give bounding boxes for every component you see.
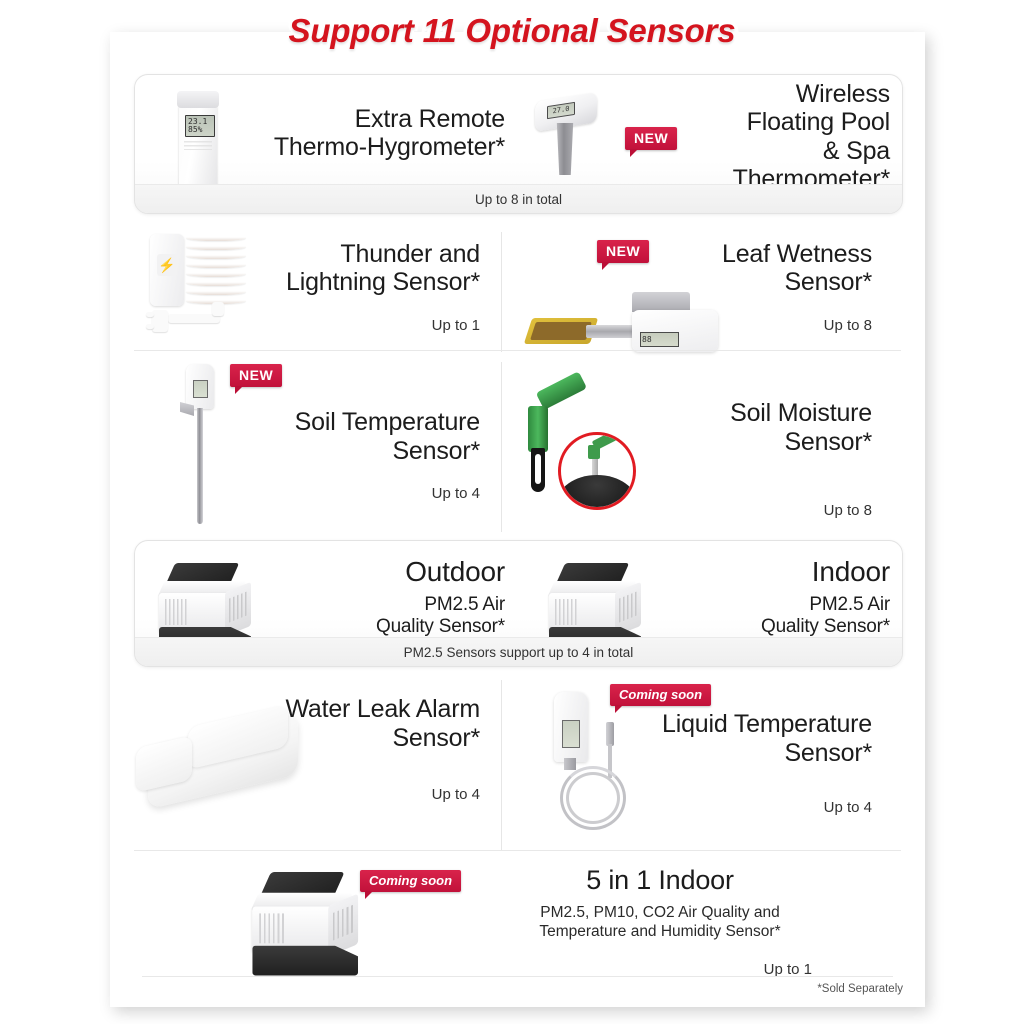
label-line-2: Sensor* — [240, 437, 480, 466]
soil-moisture-detail-inset — [558, 432, 636, 510]
thunder-lightning-sensor-label: Thunder and Lightning Sensor* Up to 1 — [240, 234, 480, 339]
label-line-2: Quality Sensor* — [675, 616, 890, 638]
capacity-text: Up to 1 — [240, 317, 480, 334]
label-line-2: Sensor* — [640, 268, 872, 297]
heading-outdoor: Outdoor — [285, 556, 505, 588]
label-line-2: Sensor* — [628, 739, 872, 768]
thermo-hygrometer-lcd: 23.1 85% — [185, 115, 215, 137]
label-line-2: Sensor* — [240, 724, 480, 753]
capacity-text: Up to 4 — [240, 786, 480, 803]
panel4-footer: PM2.5 Sensors support up to 4 in total — [135, 637, 902, 666]
divider-vertical-row3 — [501, 362, 502, 532]
panel-pm25-sensors: Outdoor PM2.5 Air Quality Sensor* Indoor… — [134, 540, 903, 667]
badge-coming-soon-liquid-temperature: Coming soon — [610, 684, 711, 706]
divider-row2-row3 — [134, 350, 901, 351]
liquid-temperature-sensor-label: Liquid Temperature Sensor* Up to 4 — [628, 708, 872, 818]
label-line-1: PM2.5 Air — [675, 594, 890, 616]
divider-row5-row6 — [134, 850, 901, 851]
mounting-arm-icon — [146, 310, 246, 336]
label-line-2: Floating Pool — [665, 108, 890, 137]
water-leak-alarm-sensor-label: Water Leak Alarm Sensor* Up to 4 — [240, 694, 480, 804]
heading-indoor: Indoor — [675, 556, 890, 588]
label-line-1: Soil Moisture Sensor* — [640, 399, 872, 456]
sensors-card: 23.1 85% Extra Remote Thermo-Hygrometer*… — [110, 32, 925, 1007]
label-line-2: Thermo-Hygrometer* — [255, 133, 505, 162]
sub-line-1: PM2.5, PM10, CO2 Air Quality and — [480, 903, 840, 922]
outdoor-pm25-sensor-label: Outdoor PM2.5 Air Quality Sensor* — [285, 553, 505, 641]
label-line-2: Lightning Sensor* — [240, 268, 480, 297]
soil-temperature-sensor-label: Soil Temperature Sensor* Up to 4 — [240, 400, 480, 510]
label-line-1: PM2.5 Air — [285, 594, 505, 616]
wireless-floating-pool-thermometer-image: 27.0 — [535, 91, 605, 186]
divider-vertical-row2 — [501, 232, 502, 352]
indoor-pm25-sensor-label: Indoor PM2.5 Air Quality Sensor* — [675, 553, 890, 641]
badge-new-soil-temperature: NEW — [230, 364, 282, 387]
badge-new-pool-thermometer: NEW — [625, 127, 677, 150]
sub-line-2: Temperature and Humidity Sensor* — [480, 922, 840, 941]
badge-coming-soon-five-in-one: Coming soon — [360, 870, 461, 892]
leaf-wetness-sensor-label: Leaf Wetness Sensor* Up to 8 — [640, 234, 872, 339]
label-line-1: Soil Temperature — [240, 408, 480, 437]
wireless-floating-pool-thermometer-label: Wireless Floating Pool & Spa Thermometer… — [665, 89, 890, 184]
panel-remote-and-pool: 23.1 85% Extra Remote Thermo-Hygrometer*… — [134, 74, 903, 214]
soil-moisture-sensor-label: Soil Moisture Sensor* Up to 8 — [640, 404, 872, 514]
extra-remote-thermo-hygrometer-label: Extra Remote Thermo-Hygrometer* — [255, 93, 505, 173]
divider-vertical-row5 — [501, 680, 502, 850]
label-line-1: Liquid Temperature — [628, 710, 872, 739]
label-line-1: Wireless — [665, 80, 890, 109]
capacity-text: Up to 4 — [628, 799, 872, 816]
badge-new-leaf-wetness: NEW — [597, 240, 649, 263]
capacity-text: Up to 8 — [640, 502, 872, 519]
soil-moisture-sensor-image — [522, 390, 642, 510]
label-line-1: Thunder and — [240, 240, 480, 269]
heading-five-in-one: 5 in 1 Indoor — [480, 865, 840, 896]
five-in-one-indoor-sensor-image — [250, 872, 377, 987]
soil-temperature-sensor-image — [180, 364, 240, 534]
divider-footnote — [142, 976, 893, 977]
sold-separately-footnote: *Sold Separately — [817, 983, 903, 995]
label-line-2: Quality Sensor* — [285, 616, 505, 638]
label-line-1: Leaf Wetness — [640, 240, 872, 269]
capacity-text: Up to 8 — [640, 317, 872, 334]
panel1-footer: Up to 8 in total — [135, 184, 902, 213]
label-line-1: Water Leak Alarm — [240, 695, 480, 724]
five-in-one-indoor-sensor-label: 5 in 1 Indoor PM2.5, PM10, CO2 Air Quali… — [480, 864, 840, 979]
lightning-bolt-icon: ⚡ — [157, 254, 177, 276]
lcd-humidity-value: 85% — [188, 126, 214, 134]
label-line-1: Extra Remote — [255, 105, 505, 134]
capacity-text: Up to 4 — [240, 485, 480, 502]
